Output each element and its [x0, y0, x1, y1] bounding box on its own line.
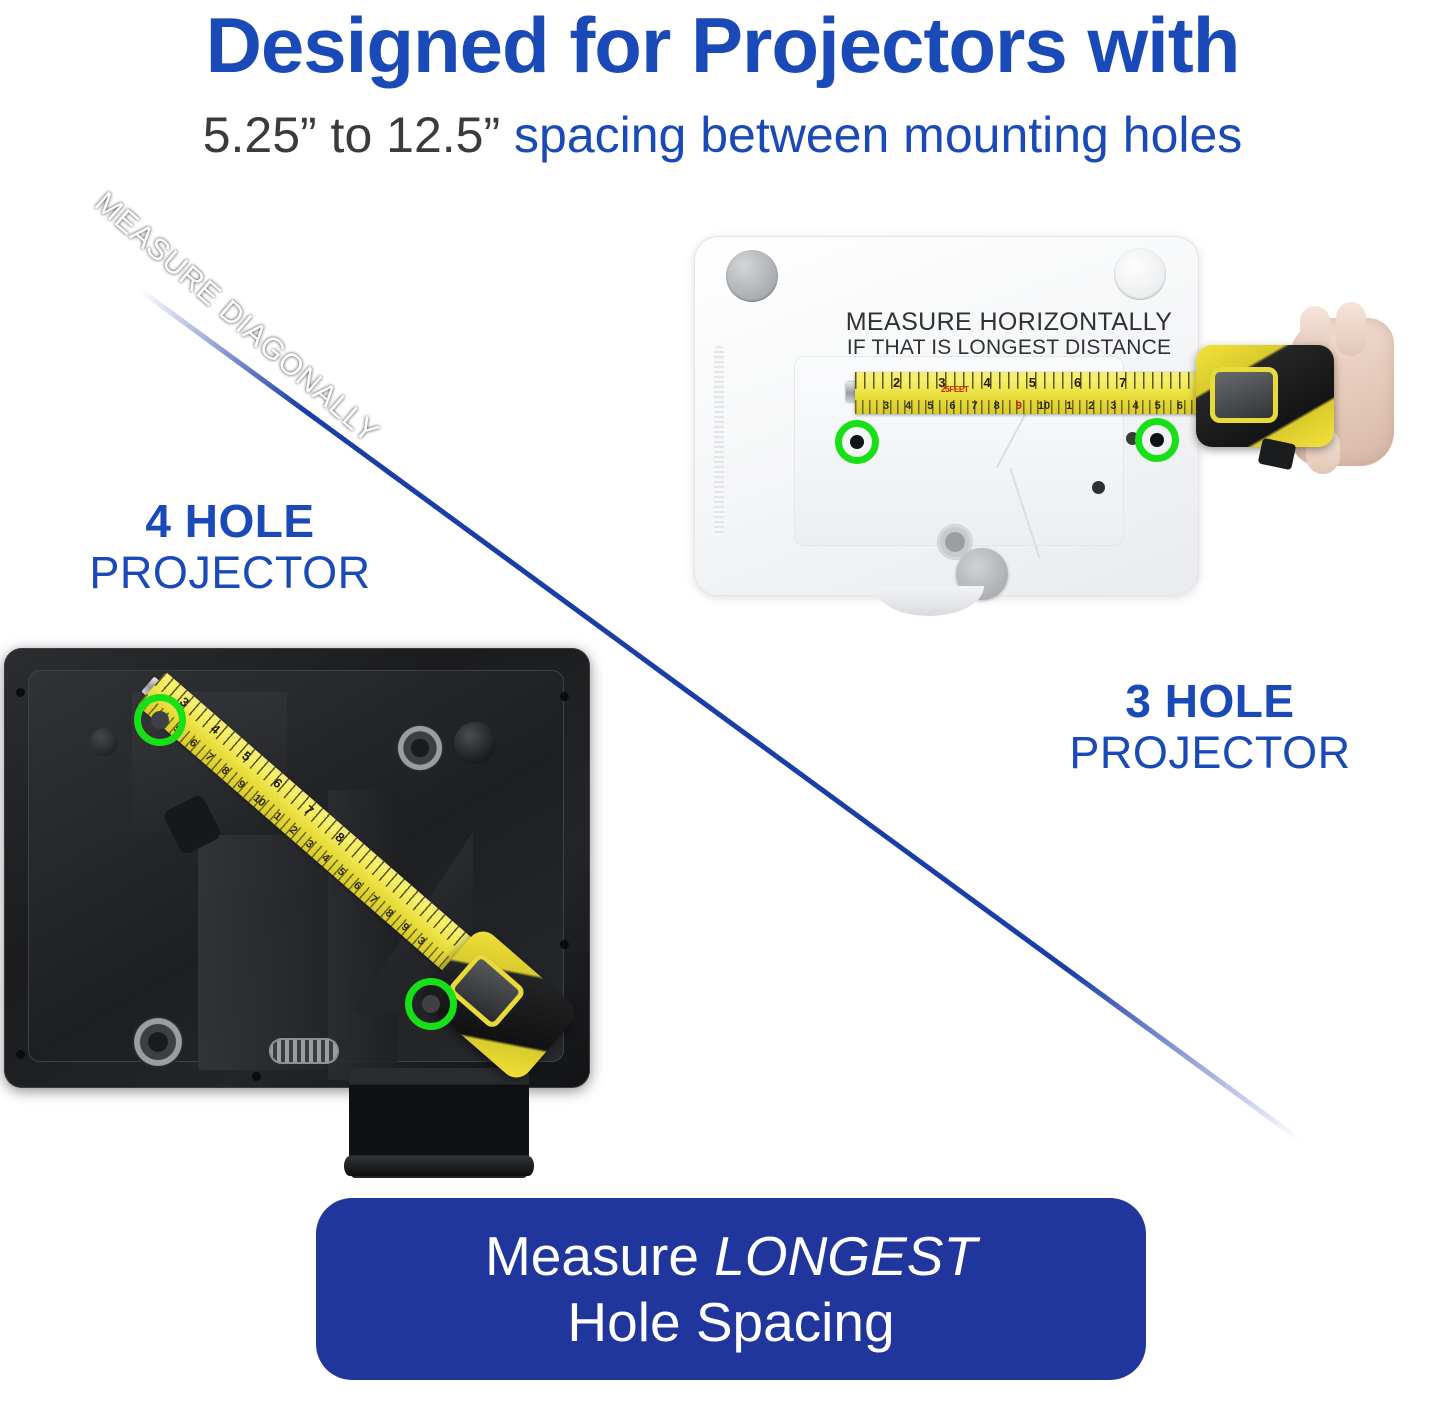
- corner-hole-4: [560, 940, 569, 949]
- mounting-hole-highlight-left: [835, 420, 879, 464]
- corner-hole-1: [16, 688, 25, 697]
- caption-line-2: IF THAT IS LONGEST DISTANCE: [829, 336, 1189, 360]
- tape-num: 1: [271, 810, 283, 823]
- vent-slots: [714, 346, 724, 536]
- tape-num: 1: [1066, 400, 1072, 412]
- tape-num: 8: [994, 400, 1000, 412]
- tape-num: 4: [983, 375, 990, 390]
- label-3-hole-title: 3 HOLE: [1010, 675, 1410, 727]
- corner-hole-3: [16, 1050, 25, 1059]
- lens-barrel-ring: [344, 1156, 534, 1176]
- tape-num: 6: [1177, 400, 1183, 412]
- finger-2: [1336, 302, 1366, 356]
- screw-cap: [454, 722, 496, 764]
- screw-dot-1: [1092, 481, 1105, 494]
- tape-num: 10: [1038, 400, 1050, 412]
- tape-num: 8: [383, 907, 395, 920]
- tape-num: 4: [1133, 400, 1139, 412]
- tape-num: 5: [239, 748, 254, 764]
- white-projector-photo: MEASURE HORIZONTALLY IF THAT IS LONGEST …: [694, 236, 1204, 621]
- subtitle-range: 5.25” to 12.5”: [203, 107, 500, 163]
- tape-inch-numbers: 2 3 4 5 6 7: [855, 375, 1248, 390]
- tape-num: 7: [972, 400, 978, 412]
- tape-case-belt-clip: [1258, 438, 1297, 471]
- caption-line-1: MEASURE HORIZONTALLY: [829, 308, 1189, 336]
- mounting-hole-bottom-left: [132, 1016, 184, 1068]
- tape-num: 4: [319, 852, 331, 865]
- tape-num: 4: [905, 400, 911, 412]
- rubber-foot-top-right: [1114, 248, 1166, 300]
- white-projector-caption: MEASURE HORIZONTALLY IF THAT IS LONGEST …: [829, 308, 1189, 360]
- black-projector-caption: MEASURE DIAGONALLY: [88, 186, 385, 451]
- banner-line-1: Measure LONGEST: [485, 1223, 977, 1289]
- black-projector-photo: [4, 648, 604, 1168]
- tape-num: 7: [203, 751, 215, 764]
- tape-num: 5: [335, 866, 347, 879]
- tape-num-red: 9: [1016, 400, 1022, 412]
- rubber-nub: [90, 728, 118, 756]
- tape-num: 6: [1074, 375, 1081, 390]
- tape-num: 3: [1110, 400, 1116, 412]
- subtitle-rest: spacing between mounting holes: [500, 107, 1242, 163]
- lens-housing: [874, 586, 984, 616]
- tape-num: 9: [399, 921, 411, 934]
- tape-num: 3: [415, 935, 427, 948]
- banner-line-2: Hole Spacing: [567, 1289, 894, 1355]
- bottom-banner: Measure LONGEST Hole Spacing: [316, 1198, 1146, 1380]
- tape-num: 9: [235, 778, 247, 791]
- tape-num: 5: [1155, 400, 1161, 412]
- tape-num: 3: [303, 838, 315, 851]
- tape-num: 4: [208, 721, 223, 737]
- banner-line-1-emphasis: LONGEST: [714, 1225, 977, 1287]
- tape-num: 3: [883, 400, 889, 412]
- mounting-hole-highlight-top: [134, 694, 186, 746]
- tape-num: 6: [187, 737, 199, 750]
- tape-num: 6: [270, 775, 285, 791]
- tape-measure-horizontal: 2 3 4 5 6 7 25FEET 3 4 5 6 7 8 9 10 1 2 …: [855, 372, 1210, 414]
- tape-num: 2: [893, 375, 900, 390]
- corner-hole-5: [252, 1072, 261, 1081]
- speaker-grille: [269, 1038, 339, 1064]
- banner-line-1-prefix: Measure: [485, 1225, 714, 1287]
- tape-metric-numbers: 3 4 5 6 7 8 9 10 1 2 3 4 5 6 7 8 9: [855, 400, 1238, 412]
- label-4-hole-title: 4 HOLE: [20, 495, 440, 547]
- label-4-hole-sub: PROJECTOR: [20, 547, 440, 599]
- label-4-hole-projector: 4 HOLE PROJECTOR: [20, 495, 440, 599]
- label-3-hole-projector: 3 HOLE PROJECTOR: [1010, 675, 1410, 779]
- tape-num: 8: [219, 765, 231, 778]
- tape-measure-case-horizontal: [1196, 345, 1334, 447]
- mounting-hole-highlight-right: [1135, 418, 1179, 462]
- mounting-hole-top-right: [396, 724, 444, 772]
- tape-num: 8: [332, 829, 347, 845]
- tape-num: 7: [367, 893, 379, 906]
- tape-num: 7: [1119, 375, 1126, 390]
- tape-num: 2: [1088, 400, 1094, 412]
- header: Designed for Projectors with 5.25” to 12…: [0, 0, 1445, 185]
- mounting-hole-highlight-bottom: [405, 978, 457, 1030]
- tape-num: 2: [287, 824, 299, 837]
- rubber-foot-top-left: [726, 250, 778, 302]
- tape-num: 5: [1029, 375, 1036, 390]
- tape-num: 6: [949, 400, 955, 412]
- corner-hole-2: [560, 692, 569, 701]
- tape-case-window: [446, 951, 527, 1031]
- tape-num: 7: [301, 802, 316, 818]
- tape-num: 6: [351, 879, 363, 892]
- tape-feet-mark: 25FEET: [941, 385, 969, 394]
- page-subtitle: 5.25” to 12.5” spacing between mounting …: [0, 106, 1445, 164]
- white-projector-body: MEASURE HORIZONTALLY IF THAT IS LONGEST …: [694, 236, 1199, 596]
- page-title: Designed for Projectors with: [0, 2, 1445, 88]
- tape-case-window: [1210, 367, 1278, 423]
- label-3-hole-sub: PROJECTOR: [1010, 727, 1410, 779]
- tape-num: 5: [927, 400, 933, 412]
